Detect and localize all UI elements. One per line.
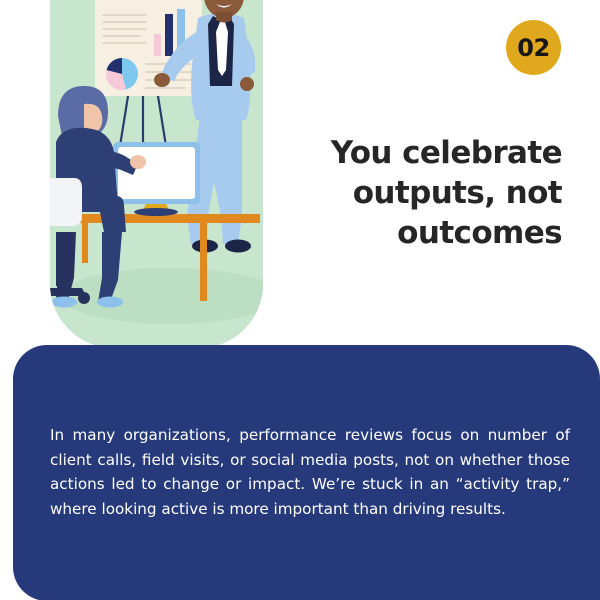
seated-person-hand [130,155,146,169]
chair-wheel [78,292,90,304]
step-number-label: 02 [517,36,549,60]
chair-post [56,232,64,286]
body-panel: In many organizations, performance revie… [13,345,600,600]
page-title: You celebrate outputs, not outcomes [262,133,562,254]
illustration-panel [50,0,263,348]
slide-canvas: 02 You celebrate outputs, not outcomes I… [0,0,600,600]
desk-leg-left [82,223,88,263]
business-presentation-illustration [50,0,263,348]
flipchart-pie-chart [106,58,138,90]
chair-seat [50,178,82,226]
monitor-base [134,208,178,216]
presenter-hand [154,73,170,87]
seated-person-shoe-back [51,297,77,308]
presenter-shoe-right [225,240,251,253]
desk-leg-right [200,223,207,301]
seated-person-shoe-front [97,297,123,308]
body-paragraph: In many organizations, performance revie… [50,423,570,522]
step-number-badge: 02 [506,20,561,75]
